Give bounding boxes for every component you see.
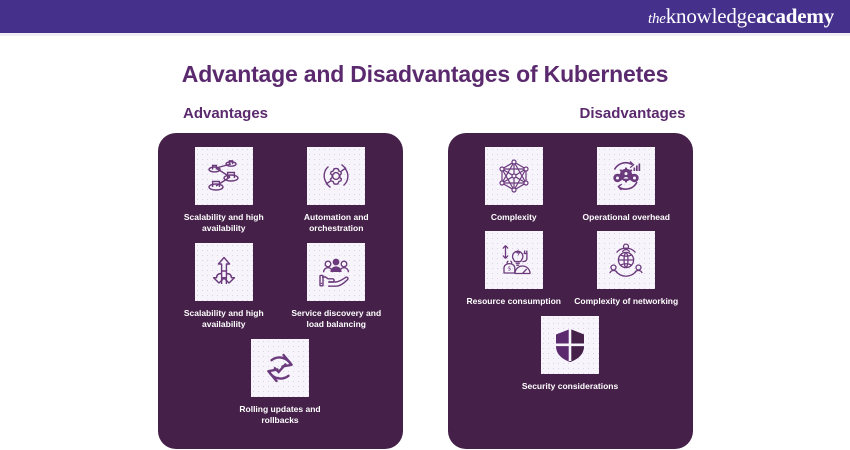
hand-holding-users-icon [307, 243, 365, 301]
card-rolling-updates-rollbacks[interactable]: Rolling updates and rollbacks [168, 339, 393, 427]
card-label: Scalability and high availability [172, 212, 276, 235]
disadvantages-heading: Disadvantages [429, 105, 836, 122]
card-service-discovery-load-balancing[interactable]: Service discovery and load balancing [280, 243, 393, 331]
logo-the-text: the [648, 11, 666, 27]
logo-academy-text: academy [756, 4, 834, 28]
card-label: Rolling updates and rollbacks [228, 404, 332, 427]
header-underline [0, 33, 850, 36]
brand-logo: theknowledgeacademy [648, 6, 834, 27]
shield-icon [541, 316, 599, 374]
panels-container: Scalability and high availability Automa… [0, 133, 850, 449]
card-label: Operational overhead [583, 212, 670, 223]
page-title: Advantage and Disadvantages of Kubernete… [0, 61, 850, 88]
card-operational-overhead[interactable]: Operational overhead [570, 147, 683, 223]
card-security-considerations[interactable]: Security considerations [458, 316, 683, 392]
card-label: Scalability and high availability [172, 308, 276, 331]
column-headings: Advantages Disadvantages [0, 105, 850, 122]
nodes-network-icon [195, 147, 253, 205]
card-label: Service discovery and load balancing [284, 308, 388, 331]
card-complexity-networking[interactable]: Complexity of networking [570, 231, 683, 307]
svg-text:$: $ [508, 266, 512, 273]
card-scalability-availability-1[interactable]: Scalability and high availability [168, 147, 281, 235]
globe-users-icon [597, 231, 655, 289]
header-bar: theknowledgeacademy [0, 0, 850, 33]
card-complexity[interactable]: Complexity [458, 147, 571, 223]
card-label: Automation and orchestration [284, 212, 388, 235]
card-label: Security considerations [522, 381, 618, 392]
gear-refresh-icon [307, 147, 365, 205]
card-automation-orchestration[interactable]: Automation and orchestration [280, 147, 393, 235]
disadvantages-panel: Complexity [448, 133, 693, 449]
refresh-check-icon [251, 339, 309, 397]
mesh-graph-icon [485, 147, 543, 205]
advantages-heading: Advantages [22, 105, 429, 122]
three-way-arrows-icon [195, 243, 253, 301]
gears-analytics-icon [597, 147, 655, 205]
logo-knowledge-text: knowledge [666, 4, 756, 28]
energy-cost-icon: $ [485, 231, 543, 289]
card-label: Resource consumption [467, 296, 561, 307]
card-resource-consumption[interactable]: $ Resource consumption [458, 231, 571, 307]
card-scalability-availability-2[interactable]: Scalability and high availability [168, 243, 281, 331]
card-label: Complexity of networking [574, 296, 678, 307]
card-label: Complexity [491, 212, 537, 223]
advantages-panel: Scalability and high availability Automa… [158, 133, 403, 449]
